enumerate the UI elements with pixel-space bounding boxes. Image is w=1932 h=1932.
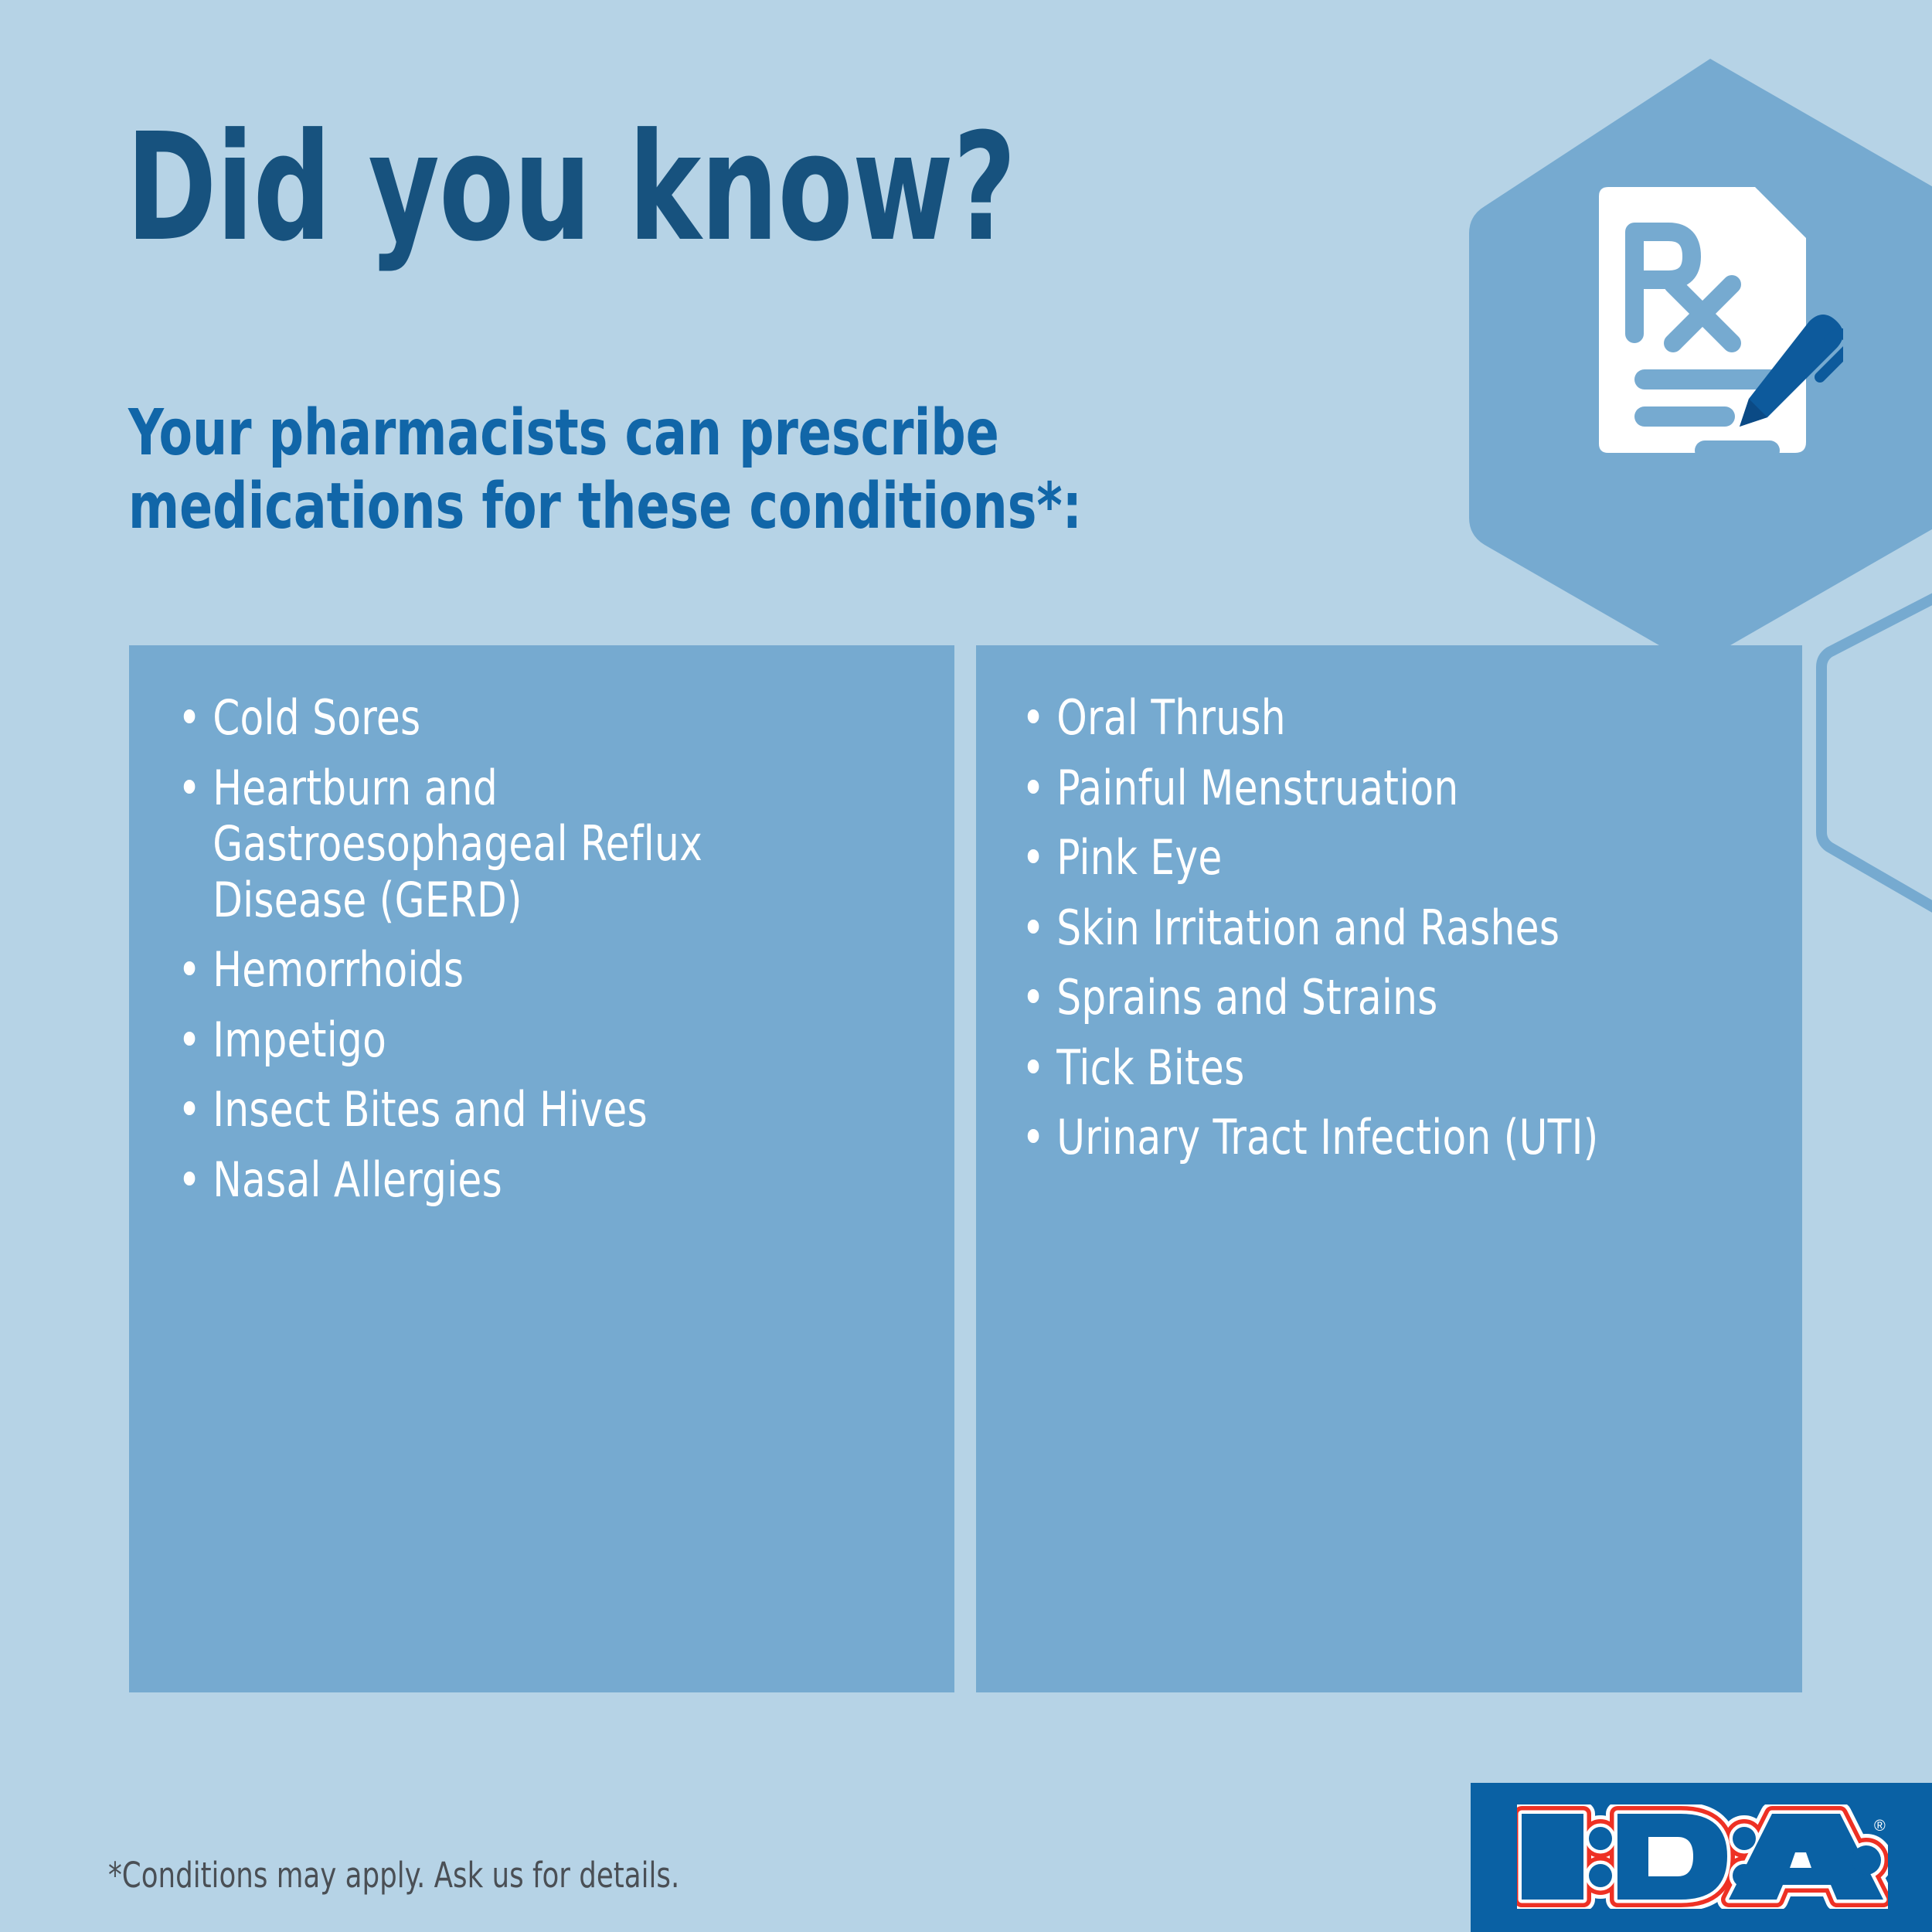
bullet-icon: • — [1022, 760, 1036, 817]
poster-canvas: Did you know? Your pharmacists can presc… — [0, 0, 1932, 1932]
list-item: • Heartburn and Gastroesophageal Reflux … — [172, 760, 849, 929]
list-item: • Painful Menstruation — [1016, 760, 1696, 817]
list-item: • Sprains and Strains — [1016, 970, 1696, 1026]
conditions-panel-right: • Oral Thrush • Painful Menstruation • P… — [976, 645, 1802, 1692]
list-item: • Insect Bites and Hives — [172, 1082, 849, 1138]
bullet-icon: • — [178, 1152, 192, 1209]
footnote-text: *Conditions may apply. Ask us for detail… — [108, 1855, 679, 1896]
list-item-label: Heartburn and Gastroesophageal Reflux Di… — [213, 760, 702, 928]
conditions-list-left: • Cold Sores • Heartburn and Gastroesoph… — [172, 690, 923, 1208]
list-item-label: Insect Bites and Hives — [213, 1081, 648, 1138]
list-item-label: Hemorrhoids — [213, 941, 464, 998]
rx-prescription-icon — [1588, 185, 1843, 464]
bullet-icon: • — [178, 1012, 192, 1069]
list-item-label: Sprains and Strains — [1056, 969, 1437, 1026]
bullet-icon: • — [178, 760, 192, 817]
svg-text:®: ® — [1874, 1818, 1886, 1835]
bullet-icon: • — [1022, 830, 1036, 886]
list-item: • Hemorrhoids — [172, 942, 849, 998]
list-item: • Tick Bites — [1016, 1040, 1696, 1097]
bullet-icon: • — [178, 690, 192, 747]
list-item-label: Skin Irritation and Rashes — [1056, 900, 1560, 956]
list-item: • Oral Thrush — [1016, 690, 1696, 747]
list-item-label: Urinary Tract Infection (UTI) — [1056, 1109, 1598, 1165]
page-subtitle: Your pharmacists can prescribe medicatio… — [128, 396, 1082, 543]
conditions-list-right: • Oral Thrush • Painful Menstruation • P… — [1016, 690, 1771, 1166]
conditions-panels: • Cold Sores • Heartburn and Gastroesoph… — [129, 645, 1802, 1692]
list-item: • Urinary Tract Infection (UTI) — [1016, 1110, 1696, 1166]
list-item-label: Painful Menstruation — [1056, 760, 1458, 816]
bullet-icon: • — [1022, 900, 1036, 957]
ida-logo: ® — [1471, 1783, 1932, 1932]
bullet-icon: • — [1022, 690, 1036, 747]
bullet-icon: • — [178, 942, 192, 998]
bullet-icon: • — [1022, 1110, 1036, 1166]
list-item: • Cold Sores — [172, 690, 849, 747]
list-item: • Nasal Allergies — [172, 1152, 849, 1209]
bullet-icon: • — [1022, 970, 1036, 1026]
list-item: • Impetigo — [172, 1012, 849, 1069]
list-item-label: Nasal Allergies — [213, 1151, 502, 1208]
list-item: • Skin Irritation and Rashes — [1016, 900, 1696, 957]
list-item-label: Tick Bites — [1056, 1039, 1244, 1096]
list-item-label: Impetigo — [213, 1012, 386, 1068]
page-title: Did you know? — [126, 114, 1015, 263]
list-item-label: Cold Sores — [213, 689, 420, 746]
bullet-icon: • — [178, 1082, 192, 1138]
conditions-panel-left: • Cold Sores • Heartburn and Gastroesoph… — [129, 645, 954, 1692]
list-item-label: Pink Eye — [1056, 829, 1222, 886]
ida-logo-mark: ® — [1517, 1804, 1888, 1909]
list-item: • Pink Eye — [1016, 830, 1696, 886]
bullet-icon: • — [1022, 1040, 1036, 1097]
list-item-label: Oral Thrush — [1056, 689, 1286, 746]
